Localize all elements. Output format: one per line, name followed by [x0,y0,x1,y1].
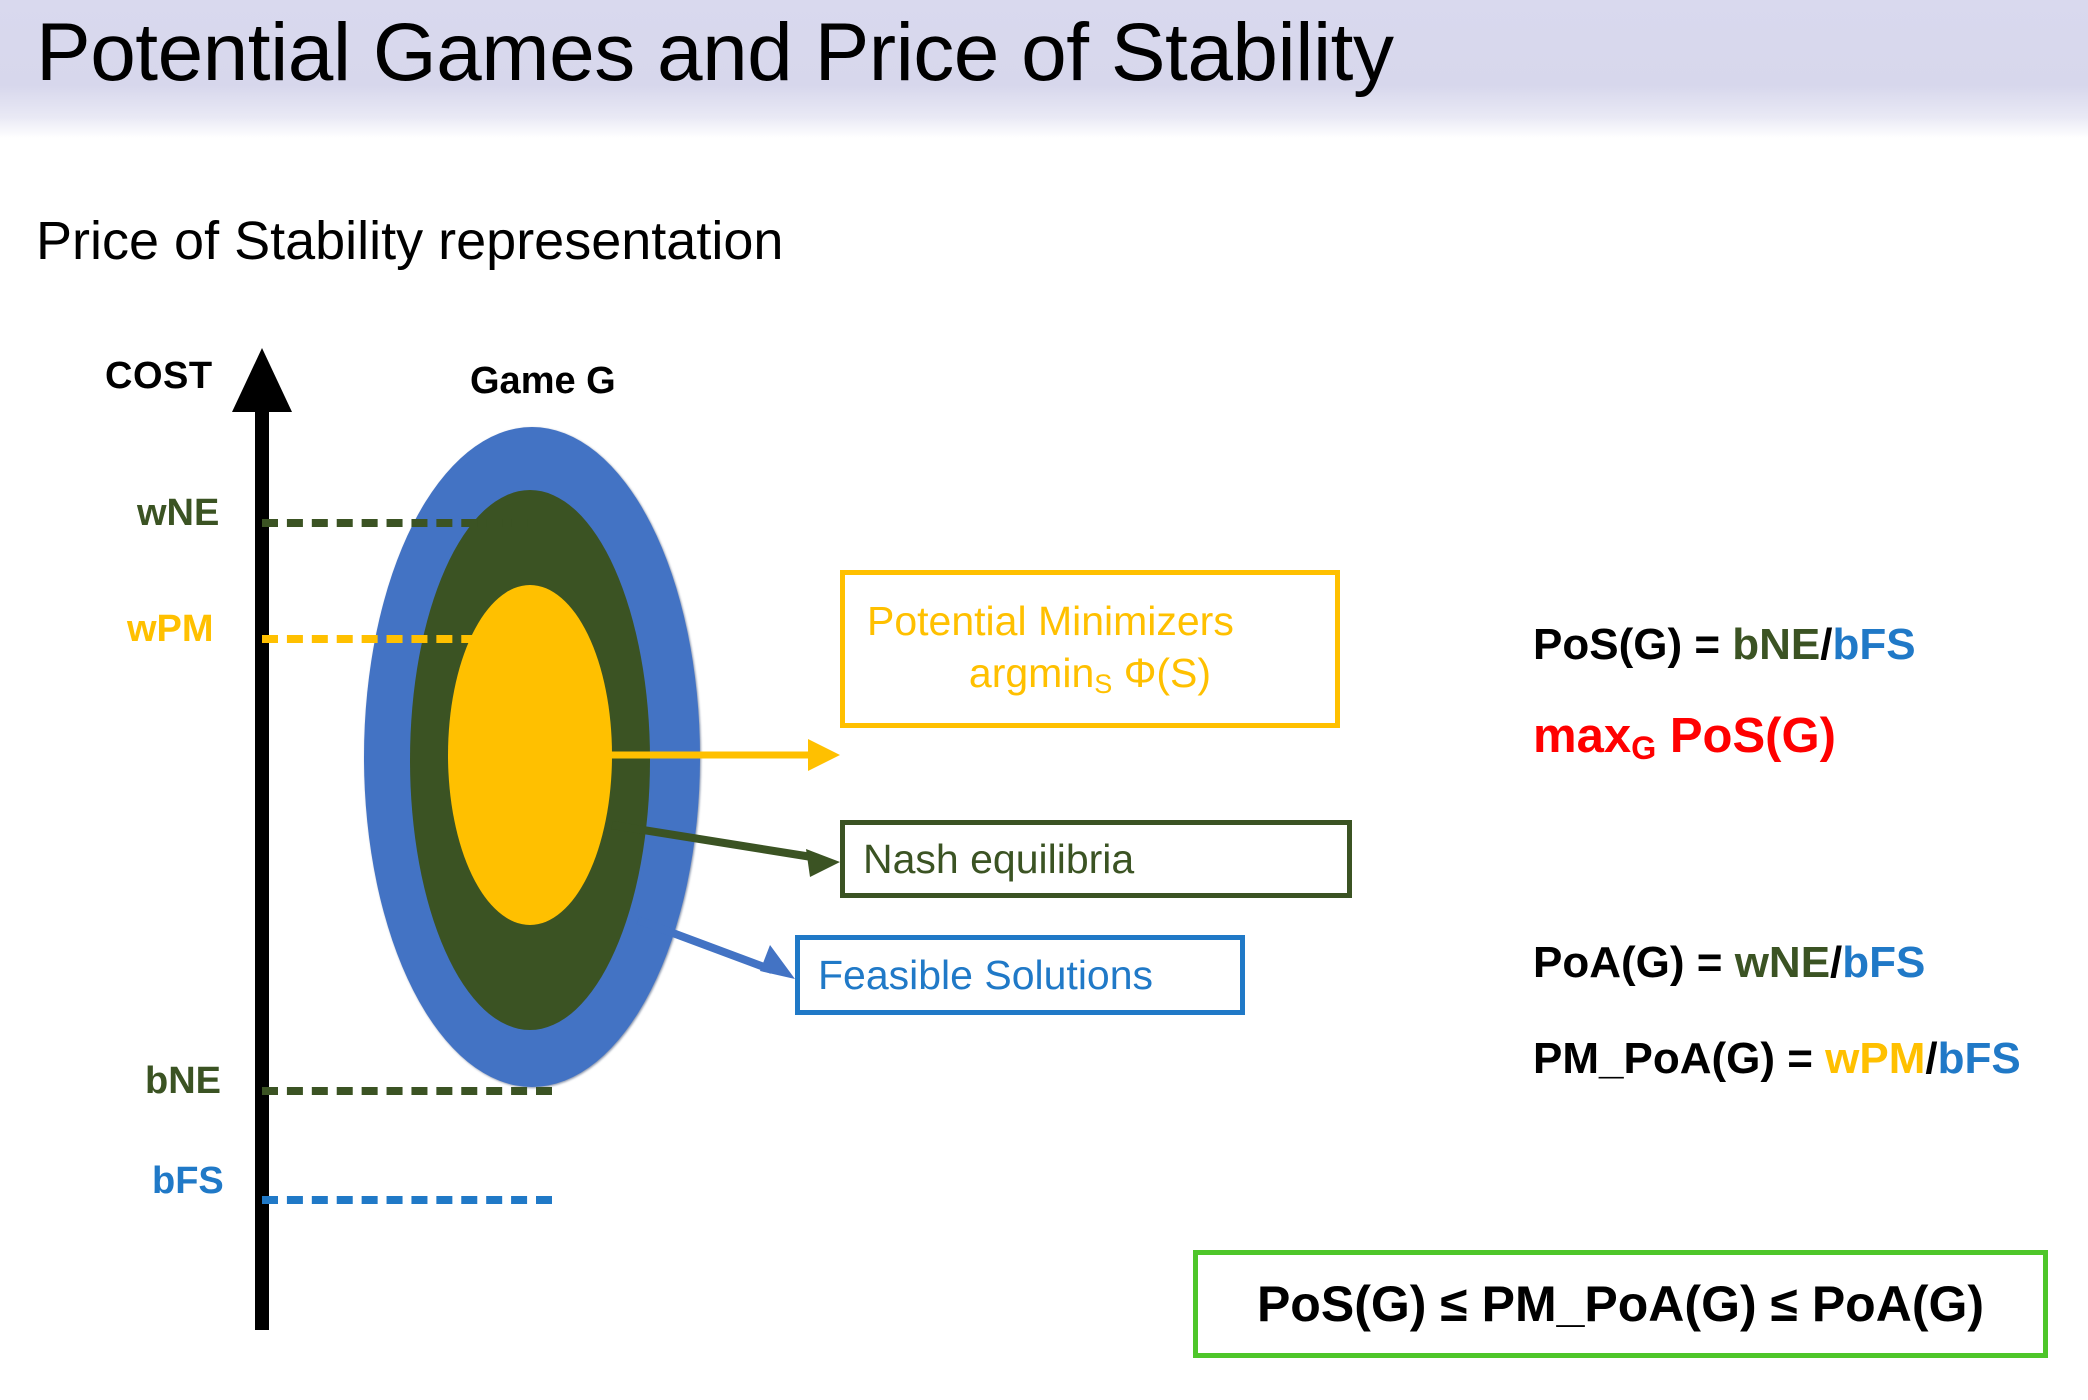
formula-max-pre: max [1533,709,1631,763]
diagram-label-game-g: Game G [470,360,616,403]
callout-potential-minimizers-line2: argminS Φ(S) [861,645,1319,700]
slide-subtitle: Price of Stability representation [36,210,783,272]
argmin-text: argmin [969,650,1094,696]
price-of-stability-diagram: COST Game G wNE wPM bNE bFS Potential Mi… [0,330,1400,1400]
tick-label-bne: bNE [145,1060,221,1103]
formula-pos-slash: / [1820,620,1832,669]
dashed-line-wne [262,519,552,527]
axis-label-cost: COST [105,355,213,398]
callout-feasible-solutions-label: Feasible Solutions [818,952,1240,999]
formula-pm-poa-numerator: wPM [1825,1034,1925,1083]
formula-pm-poa-slash: / [1925,1034,1937,1083]
formula-poa-slash: / [1830,938,1842,987]
phi-of-s: Φ(S) [1112,650,1211,696]
dashed-line-wpm [262,635,552,643]
formula-pm-poa: PM_PoA(G) = wPM/bFS [1533,1034,2021,1084]
argmin-subscript: S [1094,669,1112,699]
formula-poa-denominator: bFS [1842,938,1925,987]
callout-potential-minimizers-line1: Potential Minimizers [861,598,1319,645]
dashed-line-bfs [262,1196,552,1204]
title-banner: Potential Games and Price of Stability [0,0,2088,138]
callout-nash-equilibria: Nash equilibria [840,820,1352,898]
callout-potential-minimizers: Potential Minimizers argminS Φ(S) [840,570,1340,728]
formula-pos-lhs: PoS(G) = [1533,620,1732,669]
inequality-text: PoS(G) ≤ PM_PoA(G) ≤ PoA(G) [1257,1275,1984,1333]
formula-pos-numerator: bNE [1732,620,1820,669]
tick-label-bfs: bFS [152,1160,224,1203]
callout-feasible-solutions: Feasible Solutions [795,935,1245,1015]
formula-pos: PoS(G) = bNE/bFS [1533,620,1916,670]
formula-max-subscript: G [1631,730,1656,766]
inequality-summary-box: PoS(G) ≤ PM_PoA(G) ≤ PoA(G) [1193,1250,2048,1358]
formula-poa-numerator: wNE [1735,938,1830,987]
formula-poa: PoA(G) = wNE/bFS [1533,938,1925,988]
formula-poa-lhs: PoA(G) = [1533,938,1735,987]
tick-label-wpm: wPM [127,608,214,651]
formula-max-pos: maxG PoS(G) [1533,708,1836,767]
tick-label-wne: wNE [137,492,219,535]
formula-pos-denominator: bFS [1832,620,1915,669]
callout-nash-equilibria-label: Nash equilibria [863,836,1347,883]
slide-title: Potential Games and Price of Stability [36,6,1393,100]
formula-pm-poa-lhs: PM_PoA(G) = [1533,1034,1825,1083]
formula-pm-poa-denominator: bFS [1938,1034,2021,1083]
formula-max-post: PoS(G) [1656,709,1836,763]
dashed-line-bne [262,1087,552,1095]
